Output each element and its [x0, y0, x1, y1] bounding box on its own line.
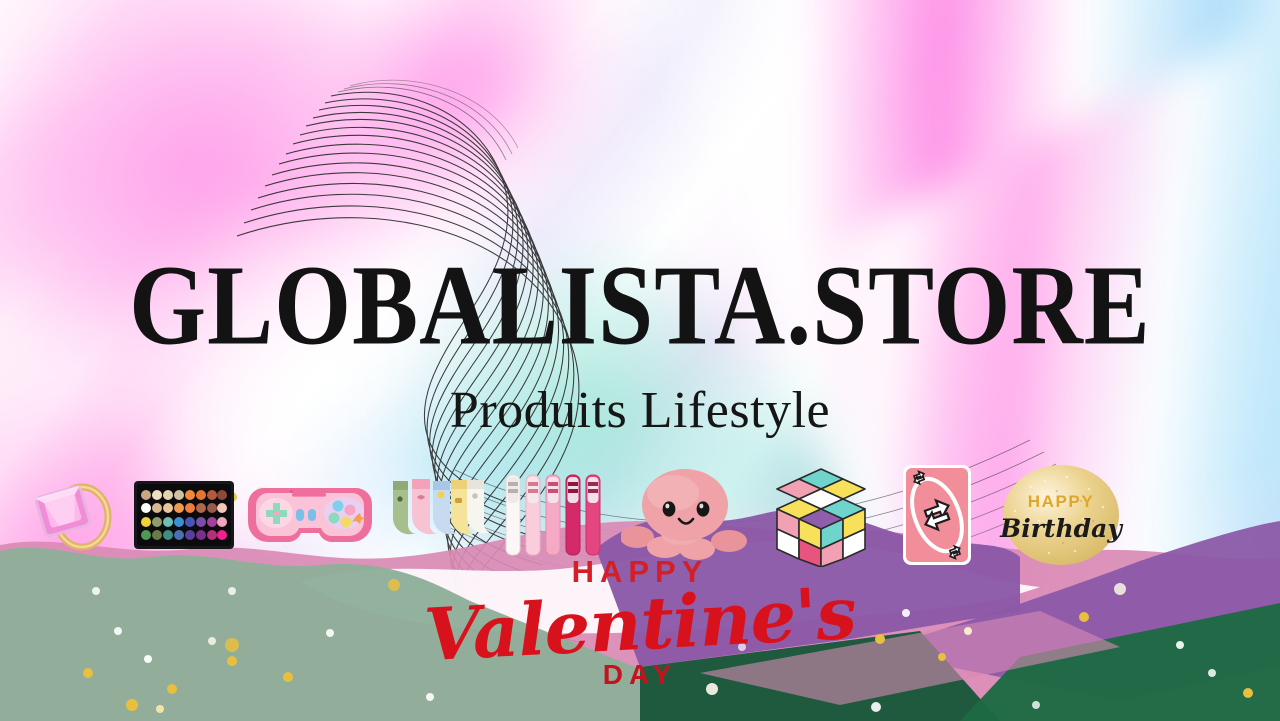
valentine-promo: HAPPY Valentine's DAY	[420, 556, 860, 689]
product-eyeshadow-palette[interactable]	[126, 460, 242, 570]
balloon-happy-text: HAPPY	[1028, 492, 1095, 511]
balloon-birthday-text: Birthday	[999, 514, 1123, 543]
banner-subtitle-wrap: Produits Lifestyle	[0, 385, 1280, 437]
banner-title: GLOBALISTA.STORE	[0, 248, 1280, 362]
rubiks-cube-icon	[763, 463, 879, 567]
gemstone-ring-icon	[24, 467, 124, 563]
socks-icon	[383, 473, 489, 557]
happy-birthday-balloon-icon: HAPPY Birthday	[997, 463, 1125, 567]
store-promo-banner: GLOBALISTA.STORE Produits Lifestyle	[0, 0, 1280, 721]
product-happy-birthday-balloon[interactable]: HAPPY Birthday	[990, 460, 1132, 570]
lip-gloss-icon	[500, 469, 610, 561]
product-socks-set[interactable]	[378, 460, 494, 570]
product-retro-game-controller[interactable]	[242, 460, 378, 570]
banner-subtitle: Produits Lifestyle	[0, 385, 1280, 437]
product-uno-reverse-card[interactable]	[884, 460, 990, 570]
banner-title-wrap: GLOBALISTA.STORE	[0, 248, 1280, 345]
game-controller-icon	[246, 480, 374, 550]
octopus-plush-icon	[621, 465, 753, 565]
product-gemstone-ring[interactable]	[22, 460, 126, 570]
product-rubiks-cube[interactable]	[758, 460, 884, 570]
eyeshadow-palette-icon	[132, 477, 236, 553]
uno-reverse-card-icon	[901, 463, 973, 567]
valentine-script-text: Valentine's	[418, 578, 861, 671]
